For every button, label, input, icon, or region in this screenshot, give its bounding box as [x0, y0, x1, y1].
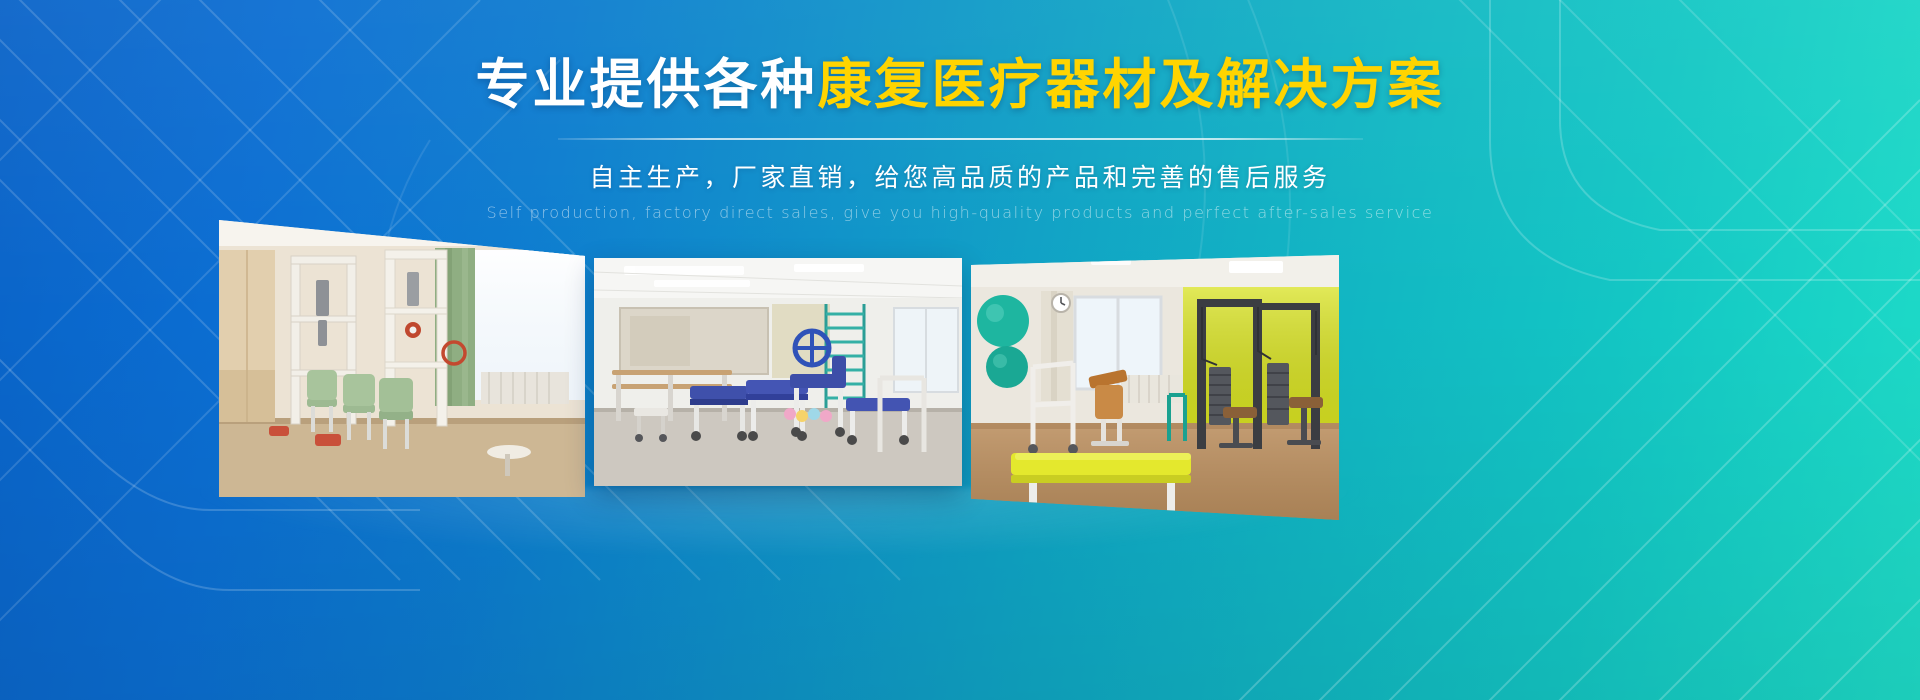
photo-rehab-room-left[interactable]: [219, 220, 585, 497]
banner-text-block: 专业提供各种康复医疗器材及解决方案 自主生产，厂家直销，给您高品质的产品和完善的…: [0, 58, 1920, 222]
page-title: 专业提供各种康复医疗器材及解决方案: [0, 58, 1920, 112]
promo-banner: 专业提供各种康复医疗器材及解决方案 自主生产，厂家直销，给您高品质的产品和完善的…: [0, 0, 1920, 700]
photo-reflection-left: [219, 437, 585, 497]
headline-yellow-part: 康复医疗器材及解决方案: [818, 53, 1445, 116]
photo-reflection-right: [971, 460, 1339, 520]
photo-reflection-center: [594, 426, 962, 486]
subtitle-english: Self production, factory direct sales, g…: [0, 203, 1920, 222]
headline-white-part: 专业提供各种: [476, 53, 818, 116]
photo-rehab-room-right[interactable]: [971, 255, 1339, 520]
photo-rehab-room-center[interactable]: [594, 258, 962, 486]
subtitle-chinese: 自主生产，厂家直销，给您高品质的产品和完善的售后服务: [0, 158, 1920, 194]
title-divider: [558, 138, 1363, 140]
